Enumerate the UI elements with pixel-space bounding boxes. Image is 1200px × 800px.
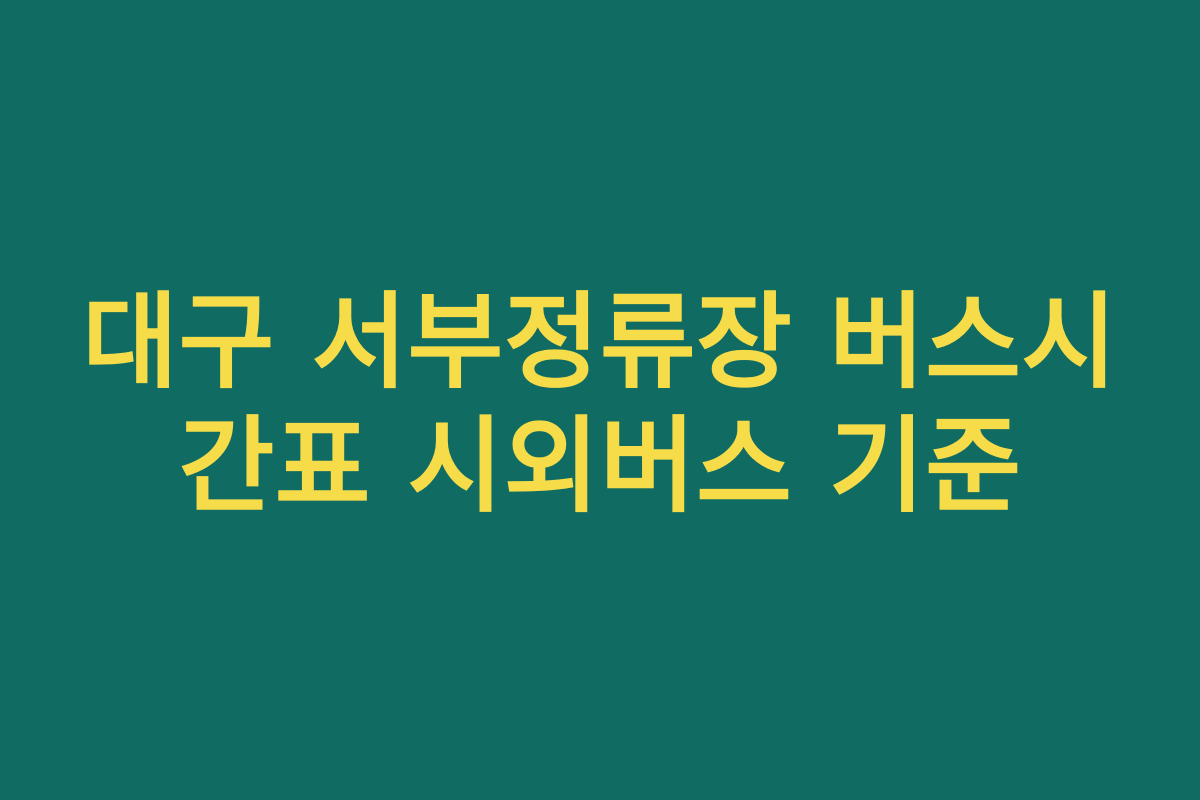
title-block: 대구 서부정류장 버스시 간표 시외버스 기준 xyxy=(0,0,1200,800)
thumbnail-canvas: 대구 서부정류장 버스시 간표 시외버스 기준 xyxy=(0,0,1200,800)
title-line-1: 대구 서부정류장 버스시 xyxy=(0,280,1200,404)
title-line-2: 간표 시외버스 기준 xyxy=(0,404,1200,528)
